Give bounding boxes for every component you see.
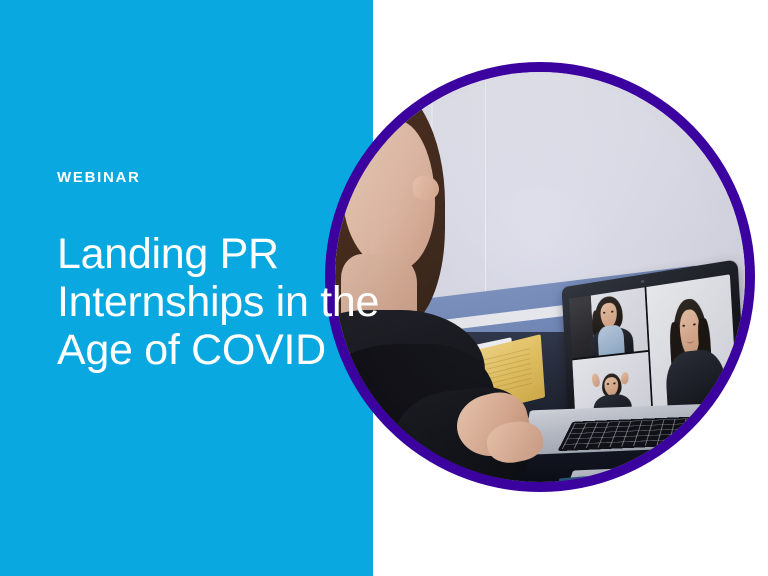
- video-call-tile: [569, 287, 648, 358]
- video-call-tile: [646, 274, 737, 414]
- laptop-screen-video-call: [569, 274, 738, 420]
- participant-shirt: [597, 324, 624, 355]
- woman-nose: [413, 176, 439, 200]
- webcam-icon: [641, 280, 645, 283]
- circular-photo-frame: [325, 62, 755, 492]
- participant-hand: [620, 371, 629, 384]
- participant-eye: [693, 323, 696, 325]
- webinar-promo-card: WEBINAR Landing PR Internships in the Ag…: [0, 0, 768, 576]
- participant-eye: [613, 382, 616, 384]
- photo-scene: [335, 72, 745, 482]
- laptop: [531, 258, 745, 482]
- blue-background-panel: [0, 0, 373, 576]
- participant-hand: [590, 373, 600, 388]
- photo-image: [335, 72, 745, 482]
